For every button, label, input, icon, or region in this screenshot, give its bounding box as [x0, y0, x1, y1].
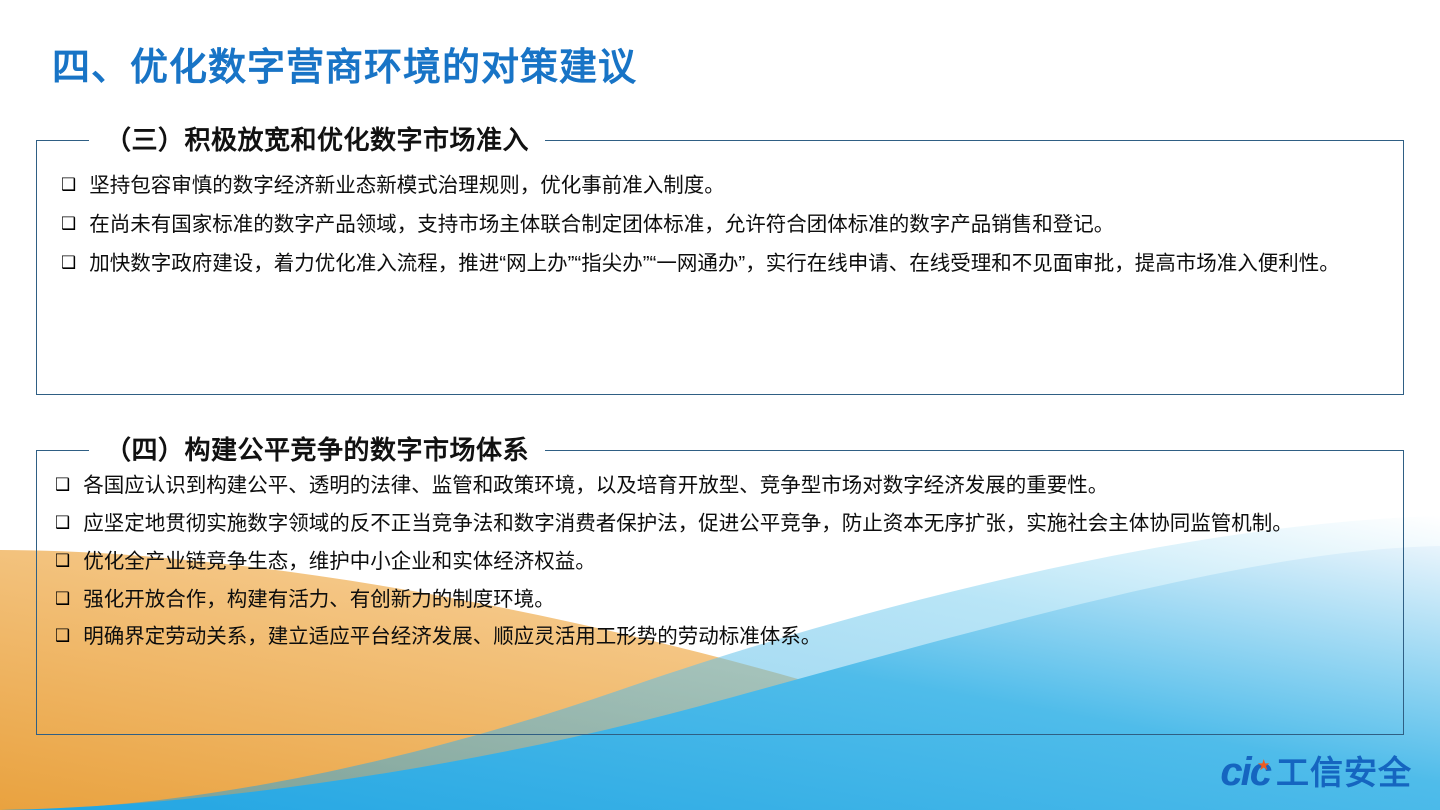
list-item: ❑强化开放合作，构建有活力、有创新力的制度环境。 [55, 583, 1385, 618]
list-item-text: 加快数字政府建设，着力优化准入流程，推进“网上办”“指尖办”“一网通办”，实行在… [89, 252, 1339, 275]
square-bullet-icon: ❑ [55, 476, 70, 493]
page-title: 四、优化数字营商环境的对策建议 [52, 36, 637, 91]
list-item-text: 在尚未有国家标准的数字产品领域，支持市场主体联合制定团体标准，允许符合团体标准的… [89, 213, 1114, 236]
section-card-3: （三）积极放宽和优化数字市场准入 ❑坚持包容审慎的数字经济新业态新模式治理规则，… [36, 140, 1404, 395]
list-item-text: 各国应认识到构建公平、透明的法律、监管和政策环境，以及培育开放型、竞争型市场对数… [83, 474, 1108, 497]
section-heading-4: （四）构建公平竞争的数字市场体系 [89, 430, 545, 467]
square-bullet-icon: ❑ [55, 590, 70, 607]
list-item-text: 强化开放合作，构建有活力、有创新力的制度环境。 [83, 588, 555, 611]
section-card-4: （四）构建公平竞争的数字市场体系 ❑各国应认识到构建公平、透明的法律、监管和政策… [36, 450, 1404, 735]
square-bullet-icon: ❑ [61, 176, 76, 193]
list-item: ❑应坚定地贯彻实施数字领域的反不正当竞争法和数字消费者保护法，促进公平竞争，防止… [55, 507, 1385, 542]
list-item-text: 优化全产业链竞争生态，维护中小企业和实体经济权益。 [83, 550, 596, 573]
square-bullet-icon: ❑ [61, 215, 76, 232]
list-item: ❑在尚未有国家标准的数字产品领域，支持市场主体联合制定团体标准，允许符合团体标准… [61, 208, 1379, 241]
logo-name: 工信安全 [1276, 756, 1412, 789]
section-body-3: ❑坚持包容审慎的数字经济新业态新模式治理规则，优化事前准入制度。 ❑在尚未有国家… [37, 141, 1403, 297]
list-item: ❑加快数字政府建设，着力优化准入流程，推进“网上办”“指尖办”“一网通办”，实行… [61, 247, 1379, 280]
slide-canvas: 四、优化数字营商环境的对策建议 （三）积极放宽和优化数字市场准入 ❑坚持包容审慎… [0, 0, 1440, 810]
square-bullet-icon: ❑ [61, 254, 76, 271]
logo-mark-cic: cic ★ [1220, 752, 1270, 792]
list-item-text: 应坚定地贯彻实施数字领域的反不正当竞争法和数字消费者保护法，促进公平竞争，防止资… [83, 512, 1293, 535]
section-heading-3: （三）积极放宽和优化数字市场准入 [89, 120, 545, 157]
list-item-text: 明确界定劳动关系，建立适应平台经济发展、顺应灵活用工形势的劳动标准体系。 [83, 625, 821, 648]
list-item: ❑坚持包容审慎的数字经济新业态新模式治理规则，优化事前准入制度。 [61, 169, 1379, 202]
brand-logo: cic ★ 工信安全 [1220, 752, 1412, 792]
list-item: ❑明确界定劳动关系，建立适应平台经济发展、顺应灵活用工形势的劳动标准体系。 [55, 620, 1385, 655]
square-bullet-icon: ❑ [55, 552, 70, 569]
section-body-4: ❑各国应认识到构建公平、透明的法律、监管和政策环境，以及培育开放型、竞争型市场对… [37, 451, 1403, 666]
list-item-text: 坚持包容审慎的数字经济新业态新模式治理规则，优化事前准入制度。 [89, 174, 725, 197]
list-item: ❑各国应认识到构建公平、透明的法律、监管和政策环境，以及培育开放型、竞争型市场对… [55, 469, 1385, 504]
square-bullet-icon: ❑ [55, 514, 70, 531]
list-item: ❑优化全产业链竞争生态，维护中小企业和实体经济权益。 [55, 545, 1385, 580]
square-bullet-icon: ❑ [55, 627, 70, 644]
